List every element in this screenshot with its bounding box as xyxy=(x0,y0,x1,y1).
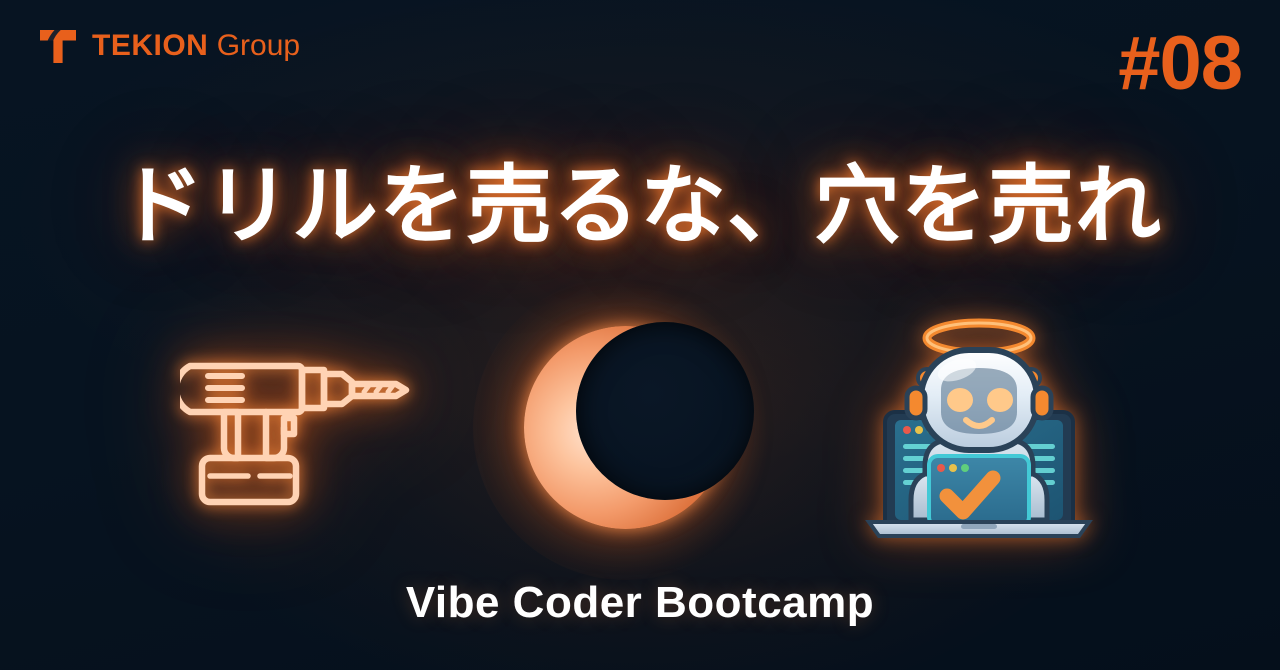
brand-suffix: Group xyxy=(217,29,300,62)
presentation-slide: TEKION Group #08 ドリルを売るな、穴を売れ xyxy=(0,0,1280,670)
brand-logo: TEKION Group xyxy=(36,24,300,68)
robot-laptop-icon xyxy=(855,312,1105,542)
footer-subtitle: Vibe Coder Bootcamp xyxy=(0,578,1280,628)
page-title: ドリルを売るな、穴を売れ xyxy=(0,158,1280,254)
episode-badge: #08 xyxy=(1118,26,1242,102)
checkmark-card xyxy=(929,456,1029,526)
brand-wordmark: TEKION Group xyxy=(92,31,300,61)
brand-name: TEKION xyxy=(92,29,208,62)
icon-row xyxy=(0,312,1280,542)
drill-icon xyxy=(150,312,450,542)
hole-shadow xyxy=(576,322,754,500)
tekion-t-mark-icon xyxy=(36,24,80,68)
hole-icon xyxy=(500,312,750,542)
